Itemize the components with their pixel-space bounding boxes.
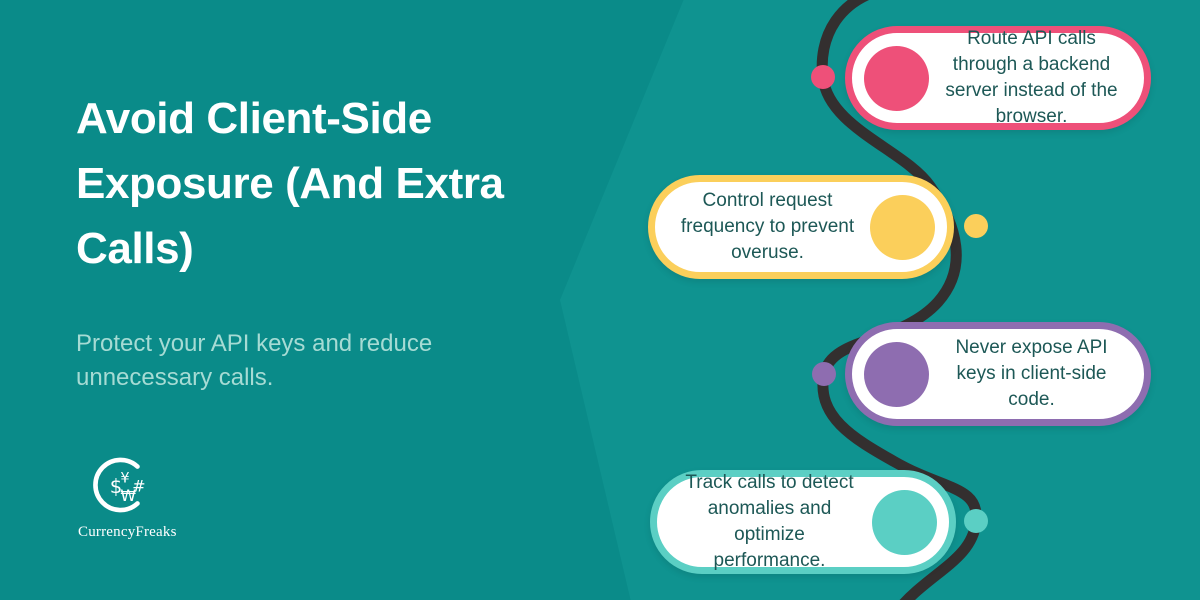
flow-card-4-text: Track calls to detect anomalies and opti… [667,470,872,575]
flow-card-3-bullet-icon [864,342,929,407]
hero-text-block: Avoid Client-Side Exposure (And Extra Ca… [76,86,596,395]
flow-card-3-text: Never expose API keys in client-side cod… [929,335,1134,414]
flow-card-4-bullet-icon [872,490,937,555]
brand-logo: $ ¥ # ₩ CurrencyFreaks [78,452,278,541]
page-subtitle: Protect your API keys and reduce unneces… [76,327,516,395]
flow-card-2-text: Control request frequency to prevent ove… [665,188,870,267]
flow-card-4[interactable]: Track calls to detect anomalies and opti… [650,470,956,574]
flow-card-1-bullet-icon [864,46,929,111]
flow-card-1-text: Route API calls through a backend server… [929,26,1134,131]
svg-text:₩: ₩ [120,486,136,505]
flow-card-2-bullet-icon [870,195,935,260]
page-title: Avoid Client-Side Exposure (And Extra Ca… [76,86,576,281]
infographic-canvas: Avoid Client-Side Exposure (And Extra Ca… [0,0,1200,600]
path-dot-yellow [964,214,988,238]
path-dot-pink [811,65,835,89]
flow-card-3[interactable]: Never expose API keys in client-side cod… [845,322,1151,426]
currency-circle-logo-icon: $ ¥ # ₩ [86,452,152,518]
flow-card-2[interactable]: Control request frequency to prevent ove… [648,175,954,279]
path-dot-purple [812,362,836,386]
brand-wordmark: CurrencyFreaks [78,524,278,541]
flow-card-1[interactable]: Route API calls through a backend server… [845,26,1151,130]
path-dot-turquoise [964,509,988,533]
svg-text:¥: ¥ [120,470,129,486]
